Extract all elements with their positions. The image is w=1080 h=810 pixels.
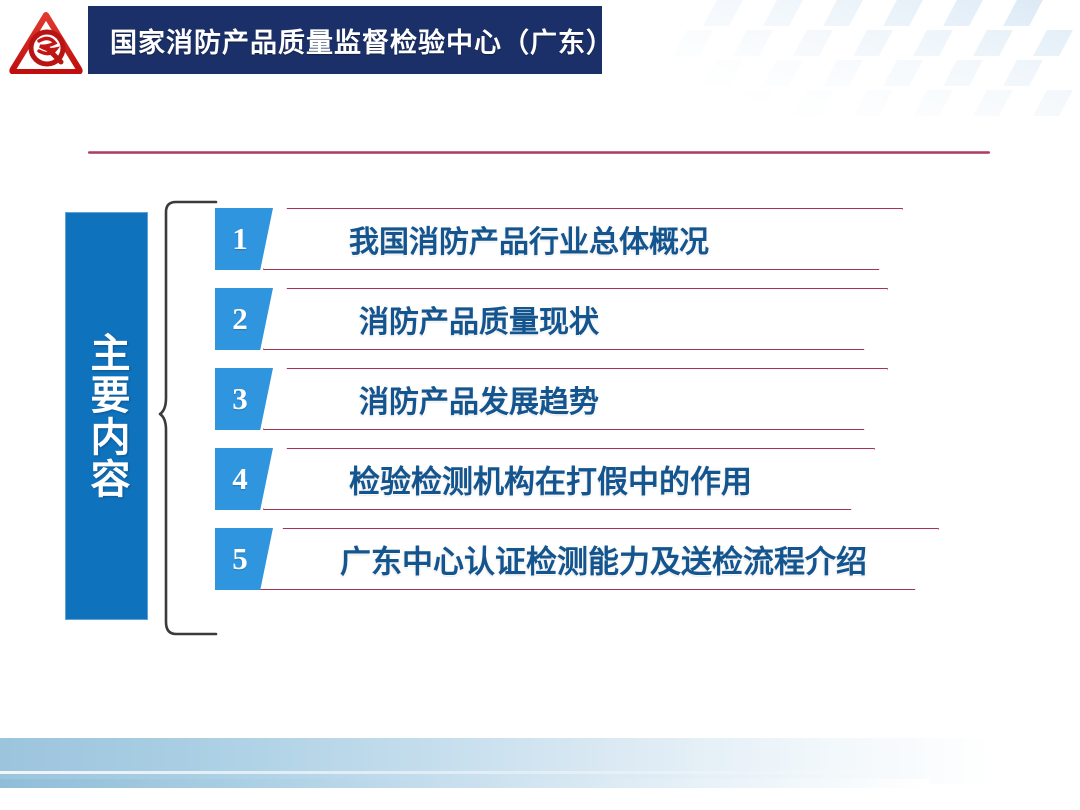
decoration-square [673,30,713,56]
item-band: 检验检测机构在打假中的作用 [263,448,875,510]
decoration-square [1033,30,1073,56]
bottom-gradient-band [0,738,1080,784]
item-number: 4 [232,461,248,497]
decoration-square [763,0,803,26]
item-number-badge: 1 [215,208,273,270]
header-divider [88,151,990,154]
main-content-side-panel: 主要内容 [65,212,148,620]
item-number: 1 [232,221,248,257]
item-number: 2 [232,301,248,337]
slide-canvas: 国家消防产品质量监督检验中心（广东） 主要内容 我国消防产品行业总体概况1消防产… [0,0,1080,810]
content-list-item[interactable]: 检验检测机构在打假中的作用4 [215,448,1005,510]
content-list-item[interactable]: 消防产品质量现状2 [215,288,1005,350]
cqc-quality-mark-logo [9,10,83,74]
decoration-square [733,90,773,116]
content-list-item[interactable]: 我国消防产品行业总体概况1 [215,208,1005,270]
item-number: 3 [232,381,248,417]
item-label: 我国消防产品行业总体概况 [349,217,709,261]
item-band: 我国消防产品行业总体概况 [263,208,903,270]
decoration-square [823,60,863,86]
decoration-square [793,90,833,116]
item-label: 消防产品发展趋势 [359,377,599,421]
item-label: 检验检测机构在打假中的作用 [349,457,752,502]
decoration-square [853,30,893,56]
decoration-square [1033,90,1073,116]
decoration-square [793,30,833,56]
decoration-square [883,0,923,26]
item-band: 广东中心认证检测能力及送检流程介绍 [259,528,939,590]
decoration-square [913,30,953,56]
decoration-square [1003,60,1043,86]
item-number: 5 [232,541,248,577]
item-number-badge: 4 [215,448,273,510]
page-title: 国家消防产品质量监督检验中心（广东） [110,21,614,60]
decoration-square [763,60,803,86]
decoration-square [823,0,863,26]
decoration-square [853,90,893,116]
decoration-square [913,90,953,116]
bottom-gradient-band-secondary [0,779,929,788]
decoration-fade-overlay [670,0,1080,160]
content-list-item[interactable]: 消防产品发展趋势3 [215,368,1005,430]
bottom-highlight-line [0,771,950,774]
decoration-square [673,90,713,116]
decoration-square [943,60,983,86]
content-list-item[interactable]: 广东中心认证检测能力及送检流程介绍5 [215,528,1005,590]
decoration-square [973,30,1013,56]
item-band: 消防产品发展趋势 [263,368,888,430]
item-band: 消防产品质量现状 [263,288,888,350]
decoration-square [733,30,773,56]
decoration-square [883,60,923,86]
item-label: 广东中心认证检测能力及送检流程介绍 [340,537,867,582]
item-label: 消防产品质量现状 [359,297,599,341]
decoration-square [973,90,1013,116]
header-title-bar: 国家消防产品质量监督检验中心（广东） [88,6,602,74]
item-number-badge: 3 [215,368,273,430]
item-number-badge: 2 [215,288,273,350]
decoration-square [1003,0,1043,26]
decoration-square [703,60,743,86]
curly-brace [158,198,220,638]
content-list: 我国消防产品行业总体概况1消防产品质量现状2消防产品发展趋势3检验检测机构在打假… [215,196,1005,636]
decoration-square [943,0,983,26]
checkered-diagonal-pattern-decoration [680,0,1080,150]
decoration-square [703,0,743,26]
side-panel-label: 主要内容 [81,332,133,500]
